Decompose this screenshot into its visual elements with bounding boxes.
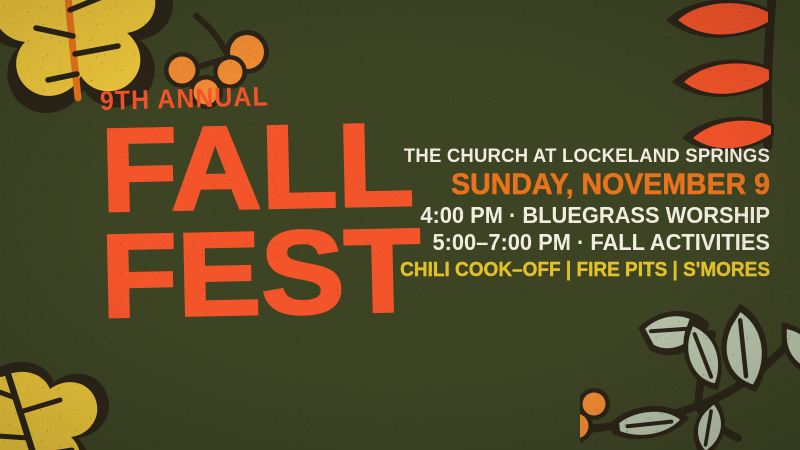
schedule-line-2: 5:00–7:00 PM · FALL ACTIVITIES (390, 231, 770, 255)
event-details-block: THE CHURCH AT LOCKELAND SPRINGS SUNDAY, … (370, 146, 770, 281)
fall-fest-poster: 9TH ANNUAL FALL FEST THE CHURCH AT LOCKE… (0, 0, 800, 450)
leaf-branch-top-right-icon (628, 0, 800, 166)
event-date: SUNDAY, NOVEMBER 9 (390, 169, 770, 200)
organization-name: THE CHURCH AT LOCKELAND SPRINGS (390, 146, 770, 166)
activities-list: CHILI COOK–OFF | FIRE PITS | S'MORES (390, 260, 770, 281)
headline-block: 9TH ANNUAL FALL FEST (100, 88, 400, 323)
oak-leaf-bottom-left-icon (0, 350, 154, 450)
leaf-branch-bottom-right-icon (580, 300, 800, 450)
schedule-line-1: 4:00 PM · BLUEGRASS WORSHIP (390, 204, 770, 228)
